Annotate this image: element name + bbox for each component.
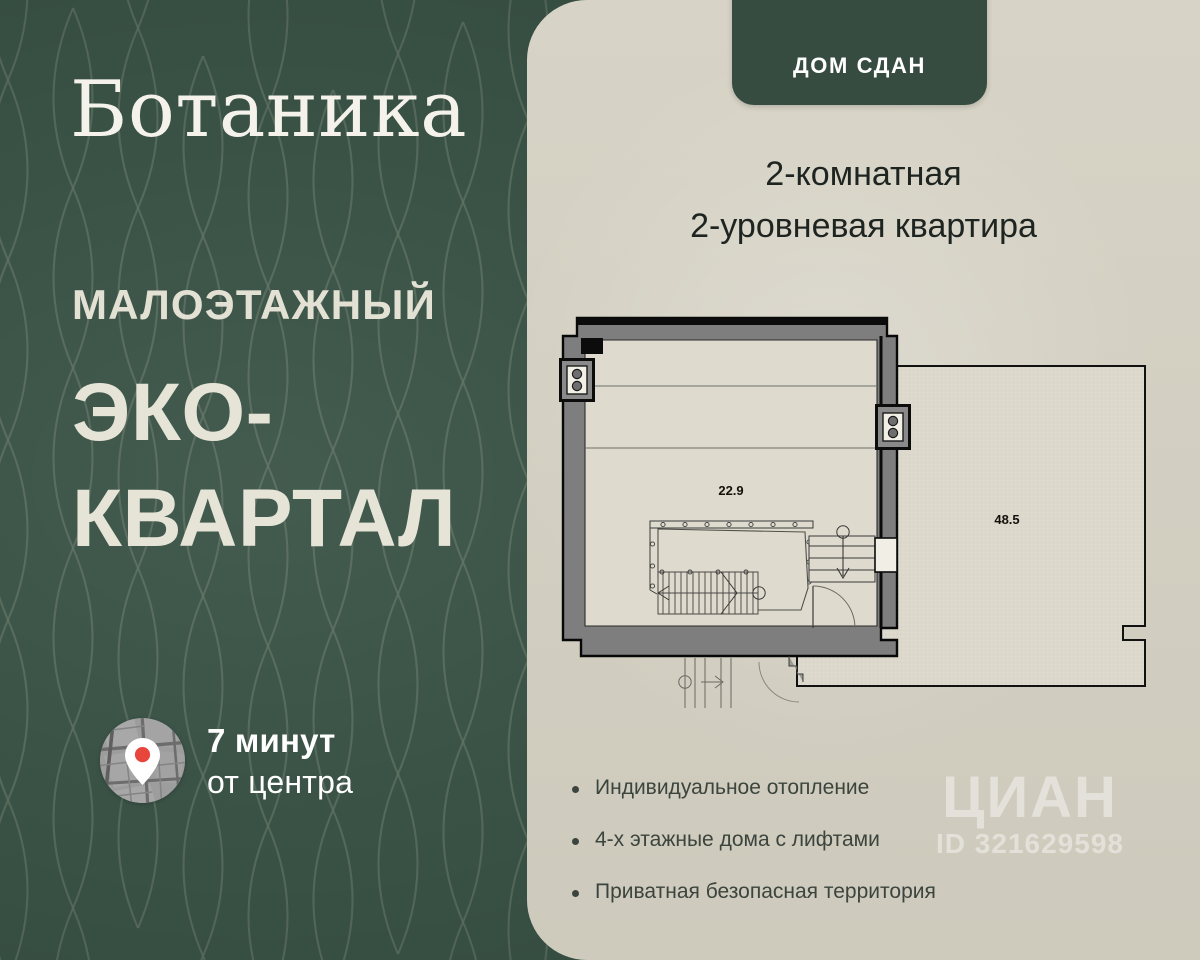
brand-logo: Ботаника xyxy=(70,62,500,158)
apartment-title-line-1: 2-комнатная xyxy=(527,148,1200,200)
bullet-icon xyxy=(572,890,579,897)
staircase xyxy=(658,570,765,614)
headline-title-line-1: ЭКО- xyxy=(72,360,512,466)
feature-item: Индивидуальное отопление xyxy=(572,775,1172,801)
status-badge-label: ДОМ СДАН xyxy=(793,53,926,79)
riser-shaft-right xyxy=(875,404,911,450)
location-badge: 7 минут от центра xyxy=(100,718,353,803)
main-unit-22-9: 22.9 xyxy=(559,318,911,656)
wall-fixture-top-left xyxy=(581,338,603,354)
location-text: 7 минут от центра xyxy=(207,724,353,798)
apartment-title-line-2: 2-уровневая квартира xyxy=(527,200,1200,252)
apartment-title: 2-комнатная 2-уровневая квартира xyxy=(527,148,1200,252)
floor-plan: 48.5 xyxy=(545,310,1185,710)
riser-shaft-left xyxy=(559,358,595,402)
area-label-48-5: 48.5 xyxy=(994,512,1019,527)
lower-entrance xyxy=(679,656,803,708)
map-pin-icon xyxy=(100,718,185,803)
headline-title: ЭКО- КВАРТАЛ xyxy=(72,360,512,572)
features-list: Индивидуальное отопление 4-х этажные дом… xyxy=(572,775,1172,905)
headline-title-line-2: КВАРТАЛ xyxy=(72,466,512,572)
status-badge: ДОМ СДАН xyxy=(732,0,987,105)
location-minutes: 7 минут xyxy=(207,724,353,757)
listing-card: Ботаника МАЛОЭТАЖНЫЙ ЭКО- КВАРТАЛ xyxy=(0,0,1200,960)
area-label-22-9: 22.9 xyxy=(718,483,743,498)
feature-label: 4-х этажные дома с лифтами xyxy=(595,827,880,853)
feature-label: Приватная безопасная территория xyxy=(595,879,936,905)
feature-item: 4-х этажные дома с лифтами xyxy=(572,827,1172,853)
headline-subtitle: МАЛОЭТАЖНЫЙ xyxy=(72,281,502,329)
bullet-icon xyxy=(572,838,579,845)
feature-label: Индивидуальное отопление xyxy=(595,775,869,801)
location-from: от центра xyxy=(207,766,353,798)
feature-item: Приватная безопасная территория xyxy=(572,879,1172,905)
bullet-icon xyxy=(572,786,579,793)
